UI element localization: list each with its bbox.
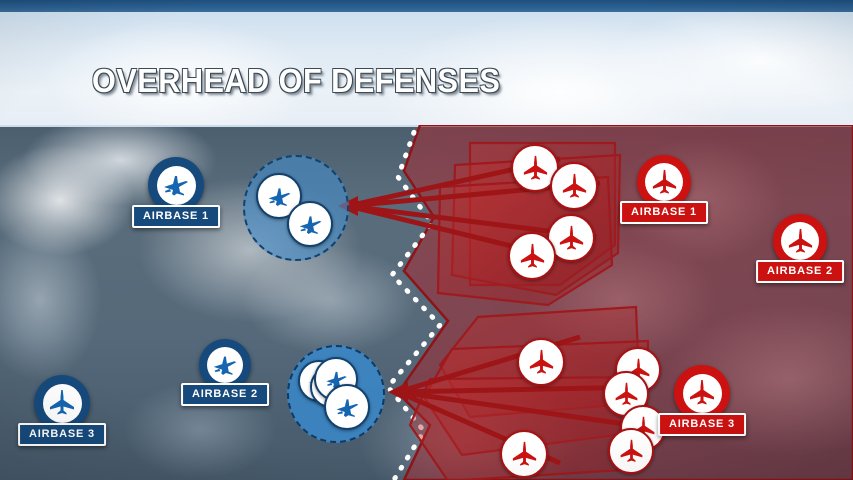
infographic-canvas: OVERHEAD OF DEFENSES: [0, 0, 853, 480]
vignette-overlay: [0, 0, 853, 480]
